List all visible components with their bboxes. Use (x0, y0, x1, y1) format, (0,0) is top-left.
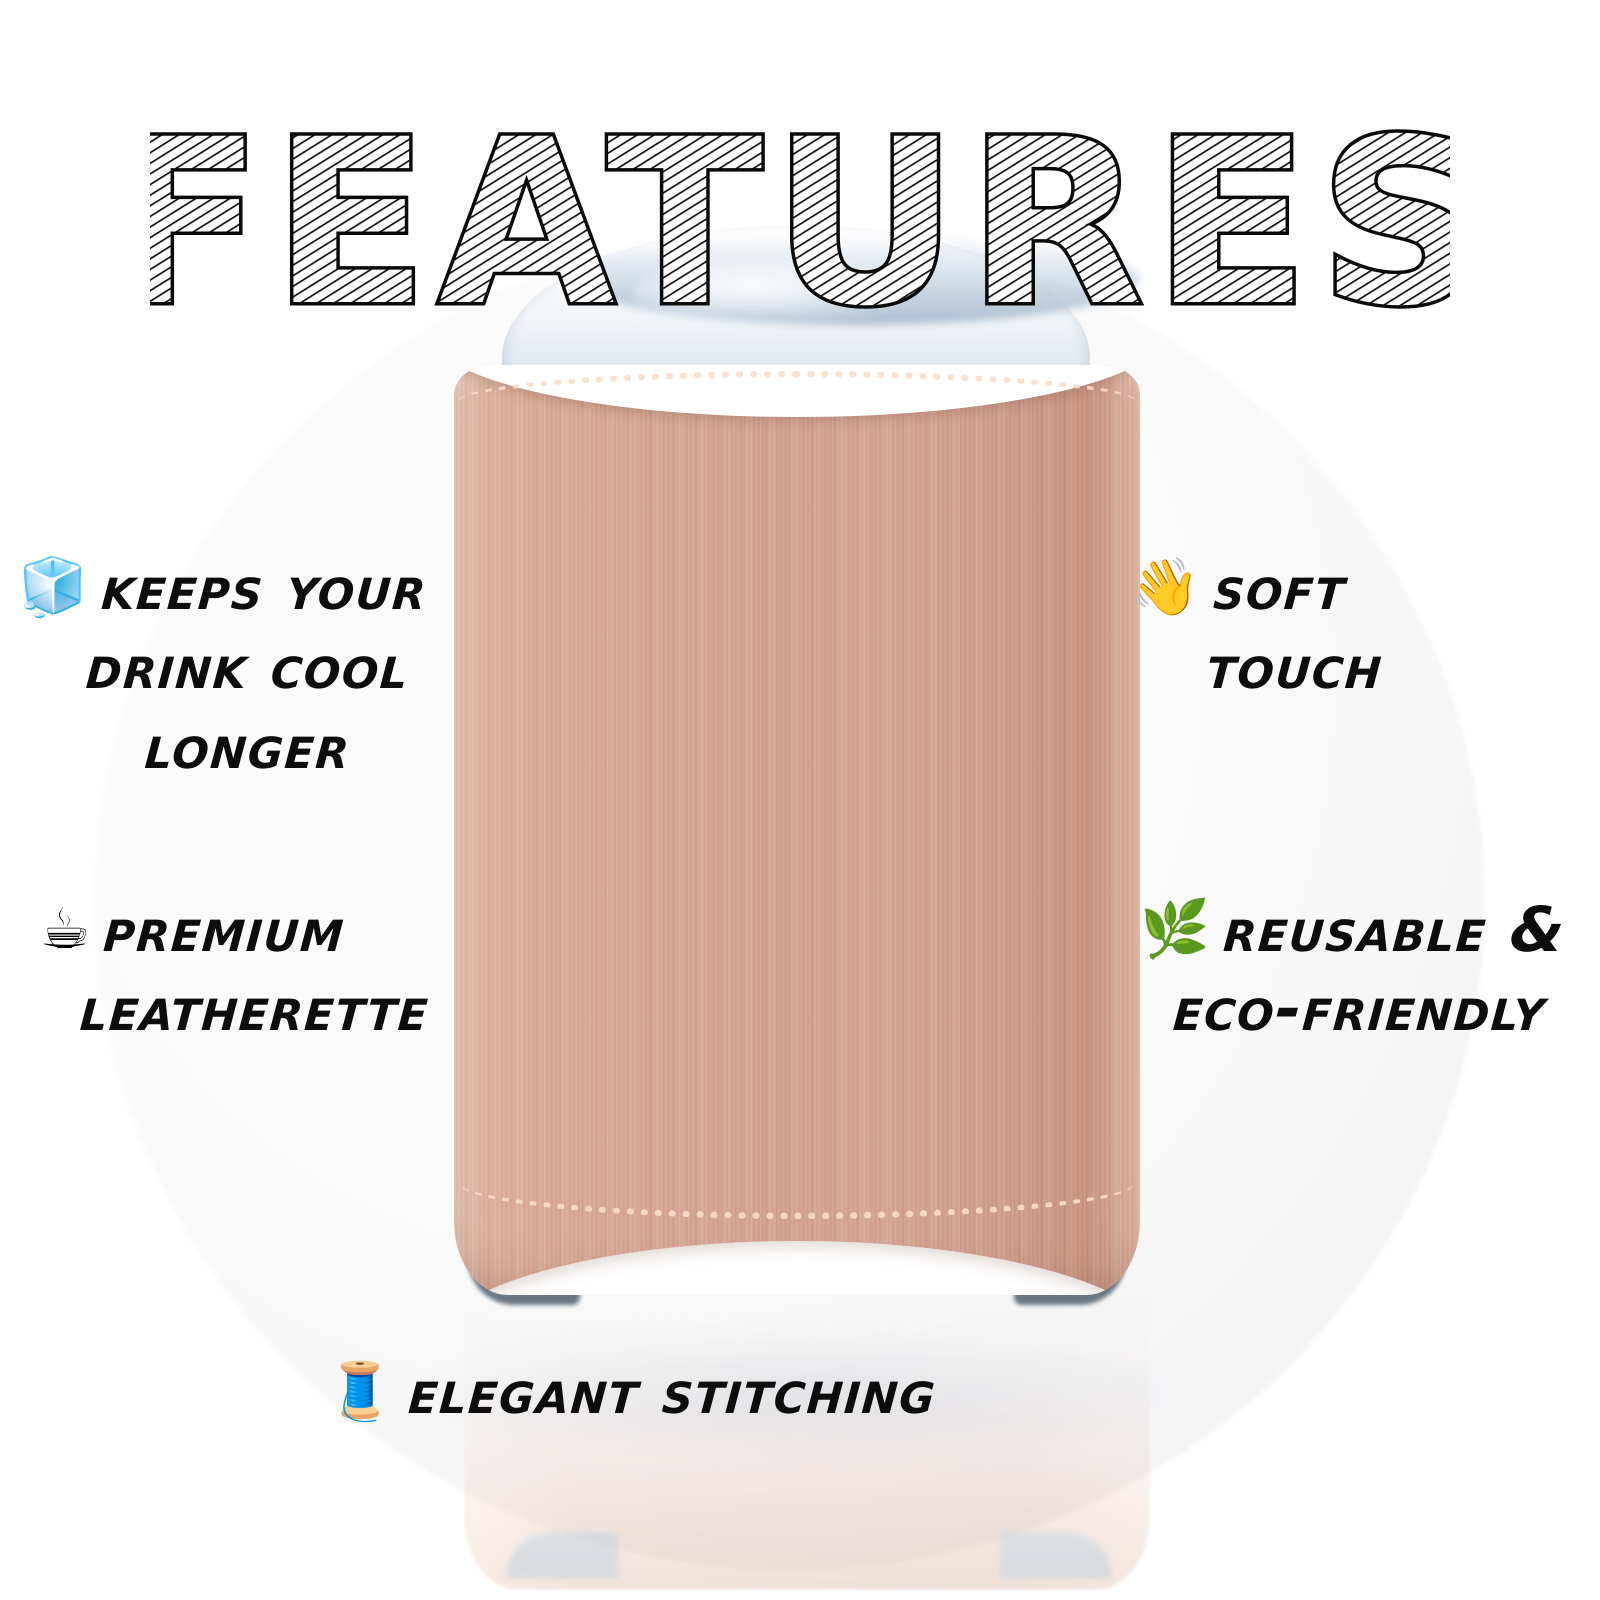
feature-premium-leatherette: ☕ Premium Leatherette (40, 890, 470, 1049)
top-stitching (458, 371, 1136, 432)
ice-cube-icon: 🧊 (18, 560, 88, 616)
feature-line: Premium (101, 890, 348, 969)
feature-line: Soft (1211, 548, 1349, 627)
feature-elegant-stitching: 🧵 Elegant Stitching (325, 1352, 1285, 1431)
feature-line: Keeps Your (99, 548, 430, 627)
feature-line: longer (15, 707, 481, 786)
feature-soft-touch: 👋 Soft Touch (1130, 548, 1460, 707)
feature-reusable-eco-friendly: 🌿 Reusable & Eco-Friendly (1140, 890, 1580, 1049)
feature-line: Eco-Friendly (1137, 969, 1583, 1048)
waving-hand-icon: 👋 (1130, 560, 1200, 616)
feature-line: Touch (1127, 627, 1463, 706)
feature-line: Elegant Stitching (406, 1352, 939, 1431)
feature-line: Drink Cool (15, 627, 481, 706)
product-image (440, 225, 1150, 1365)
leatherette-sleeve (454, 365, 1140, 1295)
hot-beverage-icon: ☕ (40, 902, 90, 958)
product-reflection (464, 1290, 1150, 1590)
bottom-stitching (460, 1148, 1134, 1219)
feature-infographic: FEATURES 🧊 Keeps Your Drink Cool longer … (0, 0, 1600, 1600)
feature-keeps-drink-cool: 🧊 Keeps Your Drink Cool longer (18, 548, 478, 786)
feature-line: Leatherette (37, 969, 473, 1048)
features-title-text: FEATURES (150, 120, 1450, 350)
herb-leaf-icon: 🌿 (1140, 902, 1210, 958)
page-title: FEATURES (0, 120, 1600, 350)
thread-spool-icon: 🧵 (325, 1364, 395, 1420)
feature-line: Reusable & (1221, 890, 1568, 969)
features-title-svg: FEATURES (150, 120, 1450, 350)
